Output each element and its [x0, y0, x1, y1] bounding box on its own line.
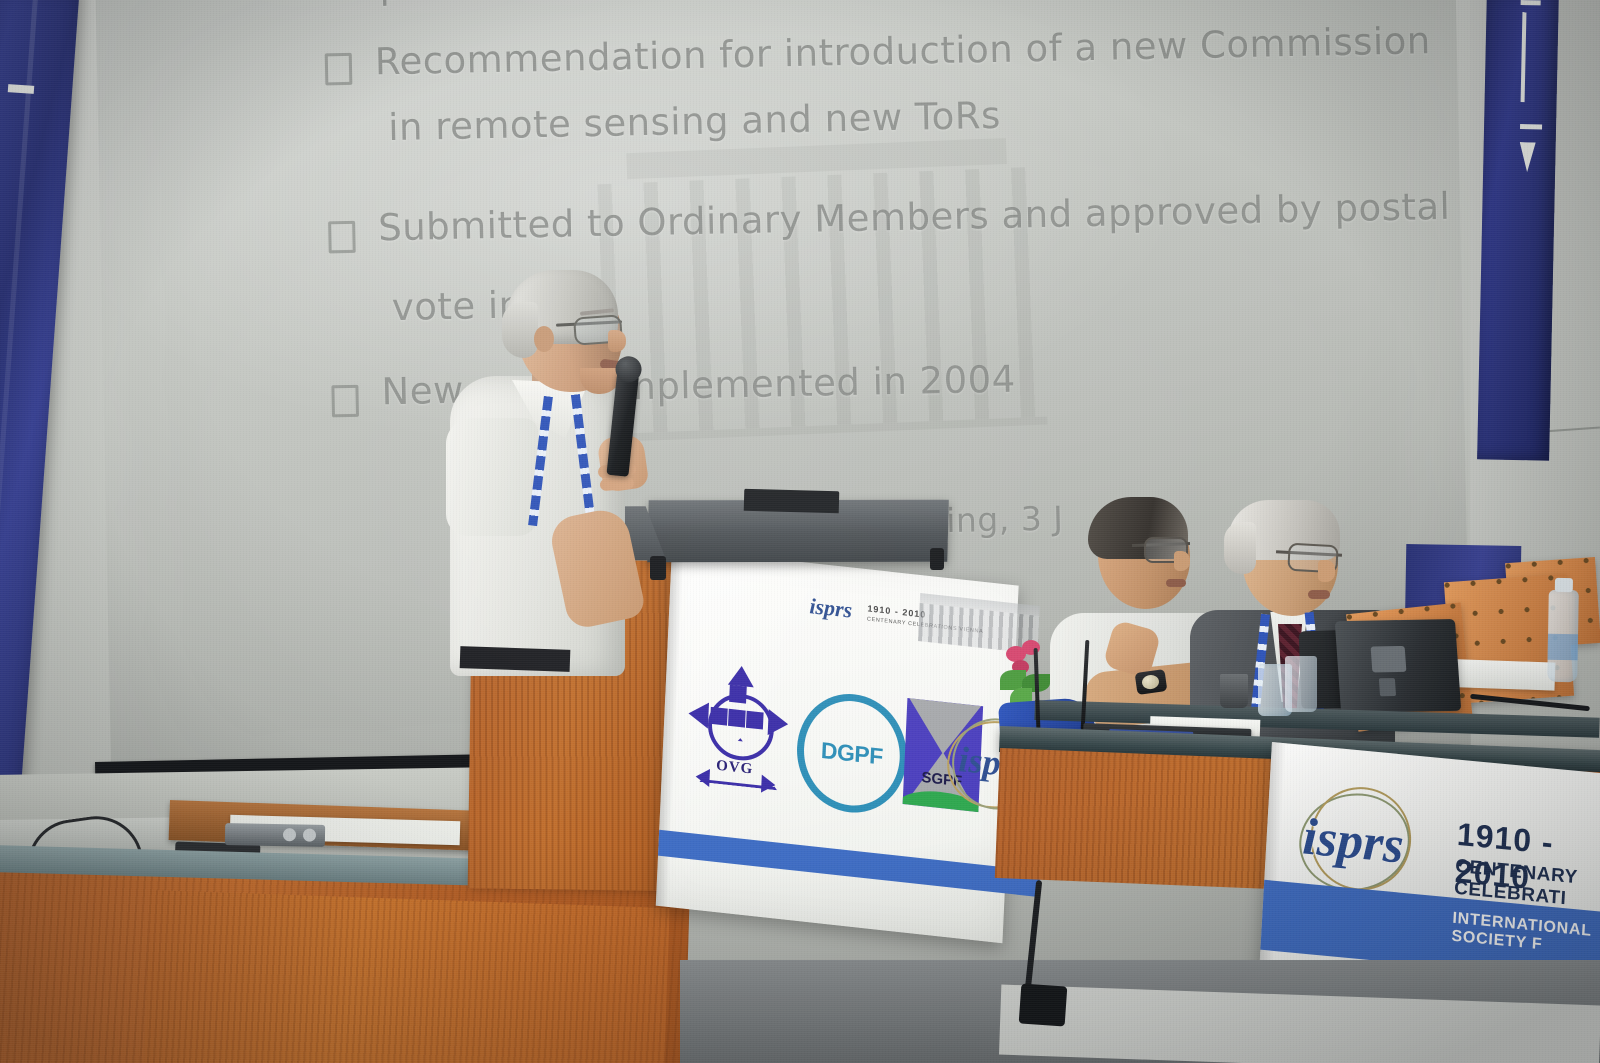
- speaker-ear: [534, 326, 554, 352]
- curtain-fold: [0, 0, 1, 821]
- slide-line-2: Recommendation for introduction of a new…: [374, 19, 1431, 83]
- ovg-arrow-corner-icon: [761, 775, 776, 794]
- power-plug: [1019, 983, 1068, 1026]
- isprs-wordmark: isprs: [809, 593, 853, 623]
- speaker-nose: [608, 330, 626, 352]
- curtain-mark: [1521, 12, 1527, 102]
- speaker-finger: [600, 477, 635, 491]
- podium-banner: isprs 1910 - 2010 CENTENARY CELEBRATIONS…: [656, 548, 1019, 943]
- panelist-left-nose: [1174, 551, 1190, 571]
- panelist-right-mouth: [1308, 590, 1330, 599]
- isprs-wordmark: isprs: [1301, 807, 1405, 875]
- slide-bullet-icon: [328, 221, 356, 254]
- laptop[interactable]: [1335, 619, 1462, 713]
- isprs-logo-group: isprs: [1287, 782, 1451, 887]
- remote-control[interactable]: [225, 823, 325, 847]
- wristwatch: [1135, 669, 1168, 695]
- water-bottle[interactable]: [1547, 590, 1579, 683]
- coffee-cup[interactable]: [1220, 674, 1248, 708]
- curtain-mark: [1520, 124, 1542, 129]
- dgpf-logo: DGPF: [794, 688, 909, 818]
- slide-line-0: period 2000- 2003: [379, 0, 731, 7]
- speaker-sleeve: [446, 418, 538, 536]
- slide-bullet-icon: [325, 53, 353, 86]
- curtain-mark: [1521, 0, 1541, 5]
- stage-front-panel-2: [143, 890, 669, 1063]
- conference-photo-scene: period 2000- 2003 ed during the Recommen…: [0, 0, 1600, 1063]
- curtain-mark: [1519, 142, 1536, 172]
- panelist-right-hair-side: [1224, 522, 1256, 574]
- slide-line-3: in remote sensing and new ToRs: [388, 94, 1001, 149]
- remote-button[interactable]: [283, 828, 296, 841]
- ovg-square: [728, 709, 746, 728]
- ovg-square: [729, 685, 747, 704]
- laptop-logo: [1379, 678, 1396, 696]
- dgpf-label: DGPF: [820, 736, 883, 770]
- speaker-belt: [460, 646, 571, 672]
- ovg-arrow-left-icon: [688, 700, 709, 728]
- ovg-square: [746, 711, 764, 730]
- ovg-arrow-corner-icon: [695, 767, 710, 786]
- lectern-monitor: [744, 489, 840, 513]
- lectern-fitting: [930, 548, 944, 570]
- microphone-head: [614, 355, 643, 384]
- ovg-arrow-up-icon: [728, 665, 755, 688]
- blue-curtain-right: [1477, 0, 1559, 461]
- ovg-arrow-right-icon: [768, 709, 789, 737]
- person-speaker: [440, 268, 700, 688]
- speaker-hair-side: [502, 302, 538, 358]
- slide-line-4: Submitted to Ordinary Members and approv…: [378, 185, 1451, 250]
- remote-button[interactable]: [303, 828, 316, 841]
- ovg-square: [710, 707, 728, 726]
- bottle-cap: [1555, 578, 1573, 592]
- bottle-label: [1548, 634, 1578, 661]
- panelist-right-nose: [1318, 560, 1335, 582]
- ovg-logo: OVG: [687, 671, 788, 791]
- slide-bullet-icon: [331, 385, 359, 418]
- drinking-glass[interactable]: [1285, 656, 1317, 712]
- panelist-left-mouth: [1166, 579, 1186, 587]
- curtain-tag: [8, 84, 34, 94]
- laptop-panel: [1371, 646, 1407, 673]
